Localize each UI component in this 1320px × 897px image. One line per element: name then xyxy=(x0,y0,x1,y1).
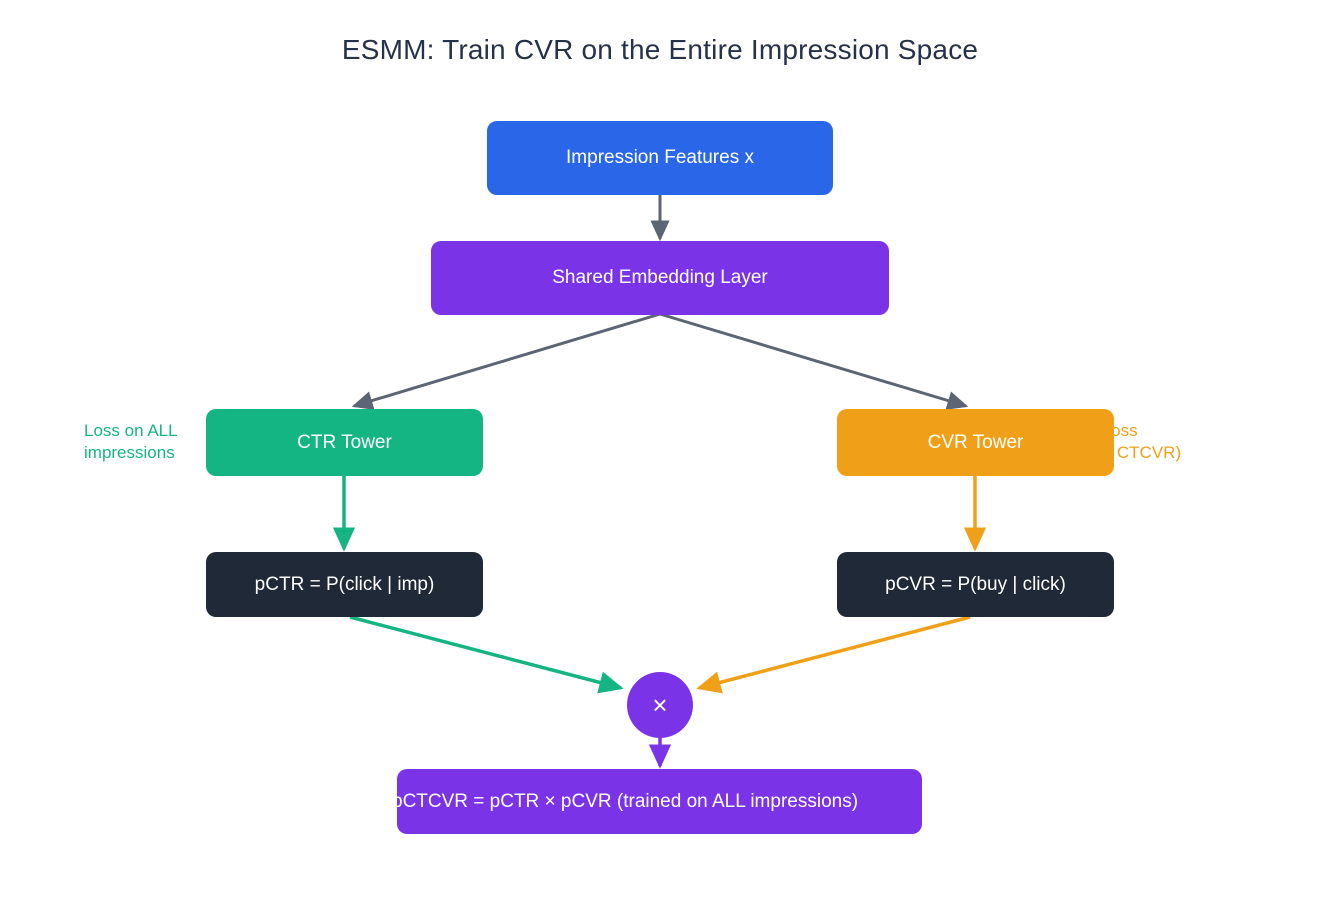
node-shared-embedding-layer[interactable]: Shared Embedding Layer xyxy=(431,241,889,315)
edge-embedding-to-cvr-tower xyxy=(660,314,966,406)
node-impression-features[interactable]: Impression Features x xyxy=(487,121,833,195)
multiply-icon: × xyxy=(652,692,667,718)
edge-embedding-to-ctr-tower xyxy=(354,314,660,406)
node-cvr-tower[interactable]: CVR Tower xyxy=(837,409,1114,476)
node-multiply-operator[interactable]: × xyxy=(627,672,693,738)
node-pcvr-formula[interactable]: pCVR = P(buy | click) xyxy=(837,552,1114,617)
annotation-ctr-loss: Loss on ALL impressions xyxy=(84,420,206,464)
page-title: ESMM: Train CVR on the Entire Impression… xyxy=(0,34,1320,66)
node-ctr-tower[interactable]: CTR Tower xyxy=(206,409,483,476)
node-pctr-formula[interactable]: pCTR = P(click | imp) xyxy=(206,552,483,617)
node-ctr-tower-label: CTR Tower xyxy=(297,432,392,454)
node-impression-features-label: Impression Features x xyxy=(566,147,754,169)
edge-pcvr-to-multiply xyxy=(699,617,970,688)
node-ctcvr-formula[interactable]: pCTCVR = pCTR × pCVR (trained on ALL imp… xyxy=(397,769,922,834)
edge-pctr-to-multiply xyxy=(350,617,621,688)
diagram-canvas: ESMM: Train CVR on the Entire Impression… xyxy=(0,0,1320,897)
node-pctr-formula-label: pCTR = P(click | imp) xyxy=(255,574,435,596)
node-shared-embedding-layer-label: Shared Embedding Layer xyxy=(552,267,767,289)
node-ctcvr-formula-label: pCTCVR = pCTR × pCVR (trained on ALL imp… xyxy=(397,791,858,813)
node-pcvr-formula-label: pCVR = P(buy | click) xyxy=(885,574,1066,596)
node-cvr-tower-label: CVR Tower xyxy=(928,432,1024,454)
